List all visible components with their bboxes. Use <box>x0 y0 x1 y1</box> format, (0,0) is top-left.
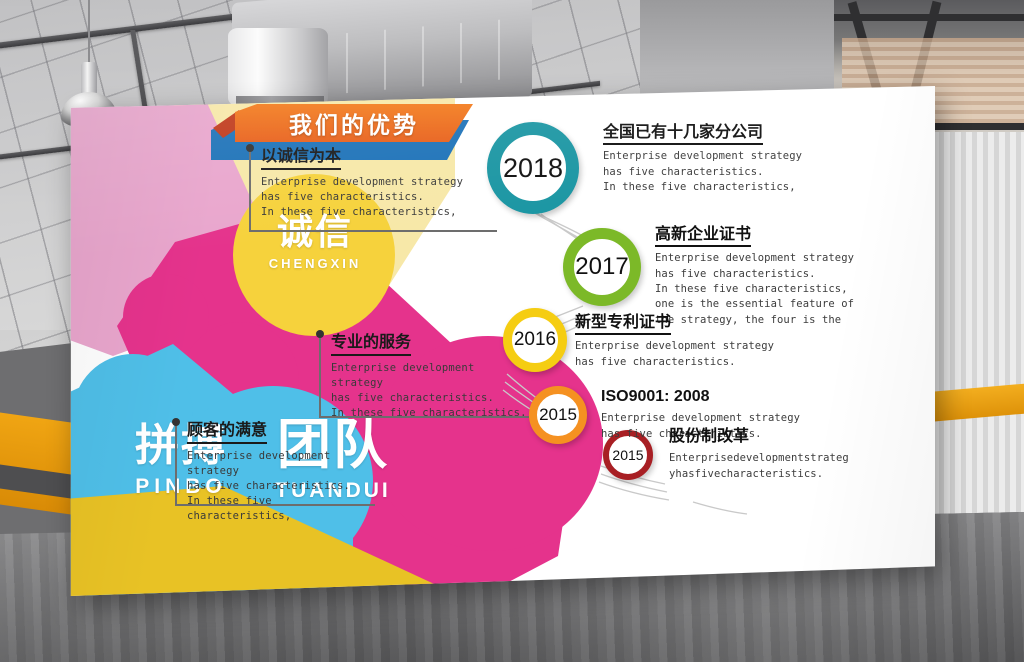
callout-satisfaction: 顾客的满意 Enterprise development strategy ha… <box>175 422 375 506</box>
timeline-event-title: ISO9001: 2008 <box>601 388 710 407</box>
callout-underline <box>249 230 497 232</box>
callout-dot-icon <box>316 330 324 338</box>
blob-pink-drip <box>89 206 155 272</box>
timeline-year-label: 2018 <box>503 153 563 184</box>
timeline-year-label: 2017 <box>575 253 628 281</box>
timeline-year-2017[interactable]: 2017 <box>563 228 641 306</box>
callout-body: Enterprise development strategy has five… <box>261 175 497 221</box>
timeline-event-body: Enterprise development strategy has five… <box>603 149 903 195</box>
timeline-event-2018: 全国已有十几家分公司 Enterprise development strate… <box>603 124 903 195</box>
main-title-ribbon: 企业发展历程 <box>551 86 891 96</box>
callout-underline <box>175 504 375 506</box>
timeline-year-label: 2015 <box>539 405 577 425</box>
value-label-en: CHENGXIN <box>231 257 399 270</box>
roof-truss <box>834 14 1024 21</box>
timeline-event-title: 全国已有十几家分公司 <box>603 124 763 145</box>
timeline-event-2017: 高新企业证书 Enterprise development strategy h… <box>655 226 935 328</box>
callout-bracket <box>319 334 321 418</box>
callout-dot-icon <box>172 418 180 426</box>
callout-dot-icon <box>246 144 254 152</box>
callout-body: Enterprise development strategy has five… <box>187 449 375 525</box>
timeline-year-2015-iso[interactable]: 2015 <box>529 386 587 444</box>
callout-title: 顾客的满意 <box>187 422 267 444</box>
callout-title: 以诚信为本 <box>261 148 341 170</box>
timeline-year-label: 2015 <box>612 447 643 463</box>
timeline-event-title: 新型专利证书 <box>575 314 671 335</box>
timeline-event-2016: 新型专利证书 Enterprise development strategy h… <box>575 314 865 370</box>
wall-poster: 诚信 CHENGXIN 团队 TUANDUI 拼搏 PINBO 我们的优势 <box>63 86 935 596</box>
poster-surface: 诚信 CHENGXIN 团队 TUANDUI 拼搏 PINBO 我们的优势 <box>63 86 935 596</box>
poster-artwork: 诚信 CHENGXIN 团队 TUANDUI 拼搏 PINBO 我们的优势 <box>63 86 935 596</box>
timeline-event-body: Enterprise development strategy has five… <box>575 339 865 370</box>
timeline-event-title: 高新企业证书 <box>655 226 751 247</box>
callout-bracket <box>175 422 177 506</box>
timeline-year-2016[interactable]: 2016 <box>503 308 567 372</box>
timeline-event-reform: 股份制改革 Enterprisedevelopmentstrateg yhasf… <box>669 428 935 482</box>
timeline-year-2018[interactable]: 2018 <box>487 122 579 214</box>
callout-bracket <box>249 148 251 232</box>
advantages-ribbon-label: 我们的优势 <box>235 104 473 142</box>
timeline-year-label: 2016 <box>514 329 556 351</box>
timeline-event-body: Enterprisedevelopmentstrateg yhasfivecha… <box>669 451 935 482</box>
callout-integrity: 以诚信为本 Enterprise development strategy ha… <box>249 148 497 232</box>
callout-title: 专业的服务 <box>331 334 411 356</box>
timeline-event-title: 股份制改革 <box>669 428 749 447</box>
scene: 诚信 CHENGXIN 团队 TUANDUI 拼搏 PINBO 我们的优势 <box>0 0 1024 662</box>
